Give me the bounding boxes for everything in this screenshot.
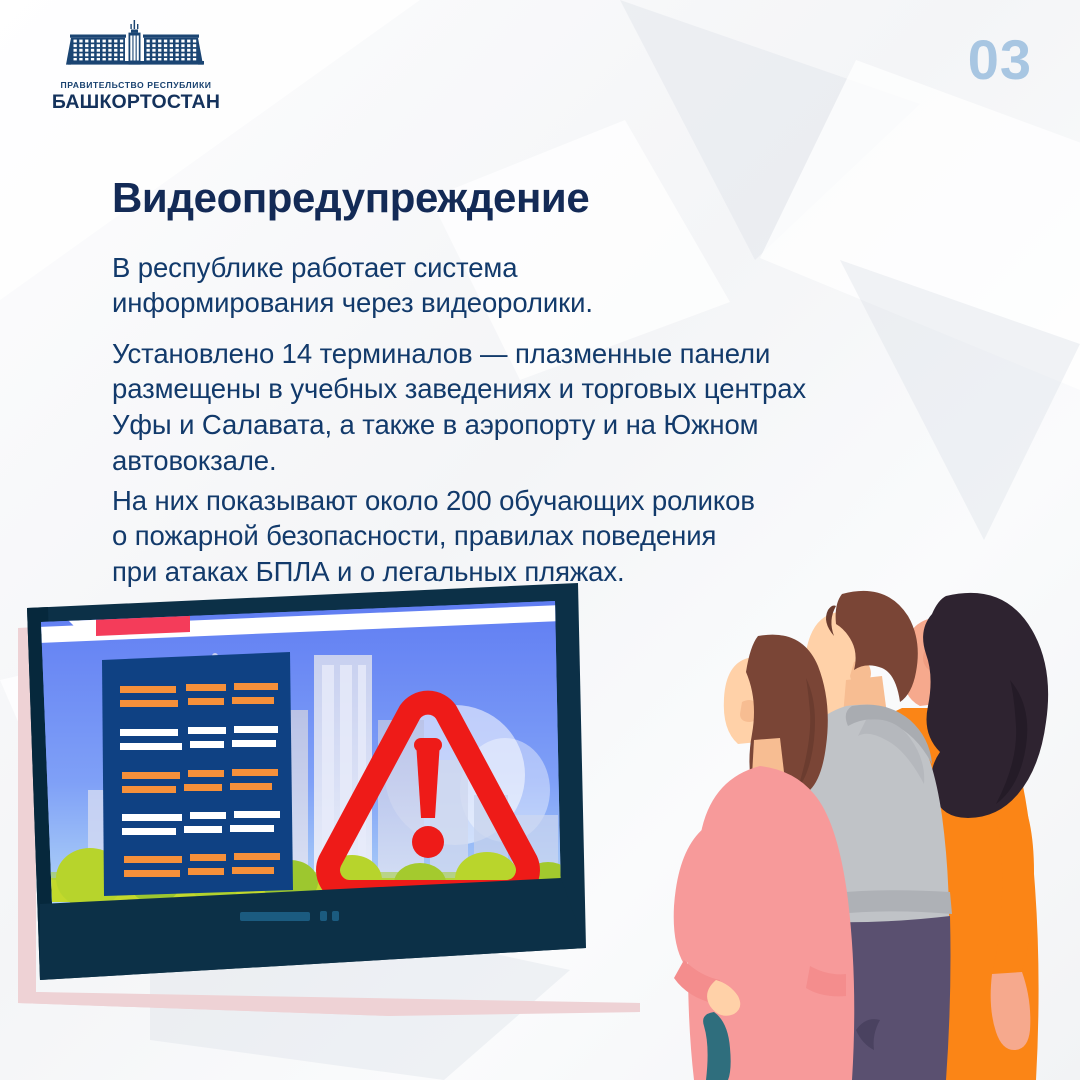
body-paragraph-2: Установлено 14 терминалов — плазменные п… — [112, 336, 806, 479]
government-building-icon — [41, 20, 231, 75]
logo-line-2: БАШКОРТОСТАН — [41, 92, 231, 113]
blue-document-panel-icon — [102, 652, 293, 896]
plasma-tv-icon — [27, 583, 593, 980]
government-logo: ПРАВИТЕЛЬСТВО РЕСПУБЛИКИ БАШКОРТОСТАН — [41, 20, 231, 113]
infographic-page: ПРАВИТЕЛЬСТВО РЕСПУБЛИКИ БАШКОРТОСТАН 03… — [0, 0, 1080, 1080]
illustration — [0, 560, 1080, 1080]
three-people-watching-icon — [674, 591, 1048, 1080]
page-title: Видеопредупреждение — [112, 176, 589, 220]
page-number: 03 — [968, 32, 1032, 88]
logo-line-1: ПРАВИТЕЛЬСТВО РЕСПУБЛИКИ — [41, 81, 231, 90]
body-paragraph-1: В республике работает система информиров… — [112, 250, 593, 322]
tv-indicator-bar — [240, 912, 310, 921]
